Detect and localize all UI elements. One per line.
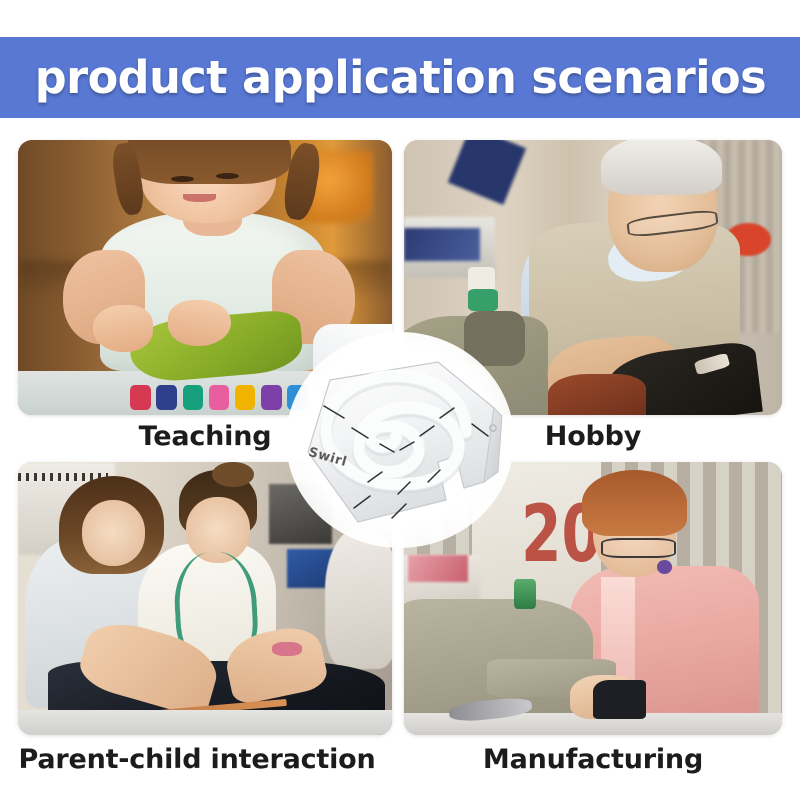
- thread-spool-pink: [209, 385, 230, 410]
- manufacturing-scene: 20: [404, 462, 782, 735]
- teaching-scene: [18, 140, 392, 415]
- scenario-photo-teaching: [18, 140, 392, 415]
- woman-right-bun: [212, 462, 253, 487]
- brown-leather-piece: [548, 374, 646, 415]
- girl-smile: [183, 194, 217, 202]
- eyeglasses-icon: [601, 538, 677, 557]
- green-thread-spool: [514, 579, 537, 609]
- thread-spool-purple: [261, 385, 282, 410]
- caption-manufacturing: Manufacturing: [404, 744, 782, 775]
- page-title: product application scenarios: [34, 51, 765, 104]
- thread-spool-teal: [183, 385, 204, 410]
- woman-hair: [582, 470, 688, 536]
- thread-spool-red: [130, 385, 151, 410]
- machine-head: [464, 311, 524, 366]
- girl-left-hand: [93, 305, 153, 352]
- caption-parent-child: Parent-child interaction: [10, 744, 384, 775]
- pink-fabric-pile: [408, 555, 468, 582]
- girl-right-eye: [216, 173, 238, 179]
- dark-garment: [593, 680, 646, 718]
- girl-left-eye: [171, 176, 193, 182]
- header-banner: product application scenarios: [0, 37, 800, 118]
- white-sewing-machine: [313, 324, 392, 415]
- beaded-bracelet: [272, 642, 302, 656]
- scenario-photo-hobby: [404, 140, 782, 415]
- thread-spool-cyan: [287, 385, 308, 410]
- navy-fabric-stack: [404, 228, 480, 261]
- dress-mannequin: [325, 528, 392, 670]
- thread-spool-blue: [156, 385, 177, 410]
- caption-hobby: Hobby: [404, 421, 782, 452]
- cutting-table: [18, 710, 392, 735]
- caption-teaching: Teaching: [18, 421, 392, 452]
- hobby-scene: [404, 140, 782, 415]
- woman-left-face: [82, 500, 146, 566]
- scenario-photo-manufacturing: 20: [404, 462, 782, 735]
- girl-hair: [126, 140, 291, 184]
- product-application-scenarios-page: product application scenarios: [0, 0, 800, 800]
- parent-child-scene: [18, 462, 392, 735]
- shelf-equipment: [269, 484, 333, 544]
- scenario-photo-parent-child: [18, 462, 392, 735]
- green-spool: [468, 289, 498, 311]
- man-white-hair: [601, 140, 722, 195]
- thread-spool-yellow: [235, 385, 256, 410]
